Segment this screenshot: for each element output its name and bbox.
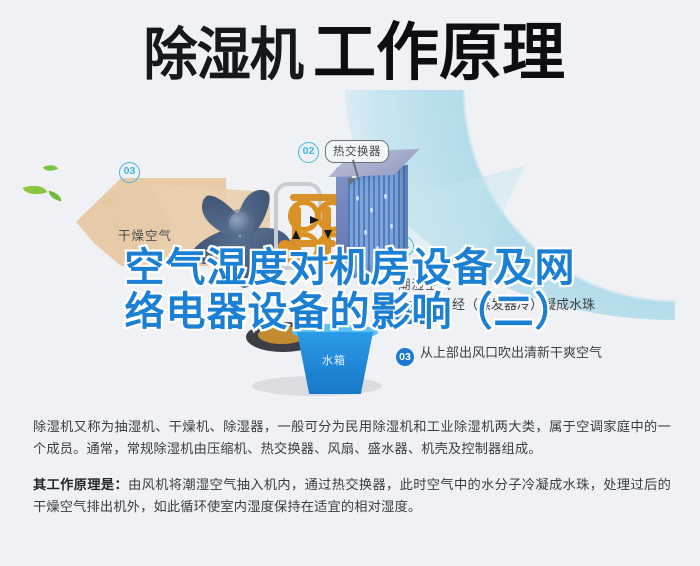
leaf-icon [47, 191, 62, 202]
dehumidifier-diagram: 03 干燥空气 01 潮湿空气 [0, 126, 700, 406]
dry-air-label: 干燥空气 [118, 225, 172, 244]
leaf-icon [43, 162, 58, 175]
flow-arrow-down-icon [324, 230, 332, 239]
badge-02-heat-exchanger: 02 [298, 142, 319, 163]
leaf-icon [23, 181, 48, 199]
diagram-caption-03: 03从上部出风口吹出清新干爽空气 [396, 342, 602, 366]
page-title-part2: 工作原理 [313, 22, 565, 85]
badge-03-dry-air: 03 [119, 162, 140, 183]
article-body: 除湿机又称为抽湿机、干燥机、除湿器，一般可分为民用除湿机和工业除湿机两大类，属于… [33, 416, 671, 518]
badge-03-caption: 03 [396, 348, 414, 366]
page-title: 除湿机工作原理 [0, 22, 700, 85]
condensation-drops [350, 186, 406, 272]
heat-exchanger-callout: 热交换器 [325, 140, 389, 163]
diagram-caption-03-text: 从上部出风口吹出清新干爽空气 [420, 345, 602, 360]
humid-air-label: 潮湿空气 [398, 274, 452, 293]
flow-arrow-right-icon [310, 216, 319, 224]
paragraph-2-lead: 其工作原理是： [33, 477, 128, 492]
badge-02-caption: 02 [400, 301, 420, 321]
diagram-caption-02-text: 空气经（蒸发器冷）凝成水珠 [426, 297, 595, 312]
paragraph-2-rest: 由风机将潮湿空气抽入机内，通过热交换器，此时空气中的水分子冷凝成水珠，处理过后的… [33, 477, 671, 514]
paragraph-2: 其工作原理是：由风机将潮湿空气抽入机内，通过热交换器，此时空气中的水分子冷凝成水… [33, 474, 671, 518]
page-title-part1: 除湿机 [143, 27, 303, 84]
paragraph-1: 除湿机又称为抽湿机、干燥机、除湿器，一般可分为民用除湿机和工业除湿机两大类，属于… [33, 416, 671, 460]
callout-tip-icon [347, 178, 355, 185]
water-tank-label: 水箱 [322, 352, 346, 368]
heat-exchanger-callout-label: 热交换器 [333, 146, 381, 158]
flow-arrow-up-icon [292, 230, 300, 239]
poster-page: 除湿机工作原理 03 干燥空气 01 潮湿空气 [0, 0, 700, 566]
diagram-caption-02: 02空气经（蒸发器冷）凝成水珠 [400, 294, 595, 321]
